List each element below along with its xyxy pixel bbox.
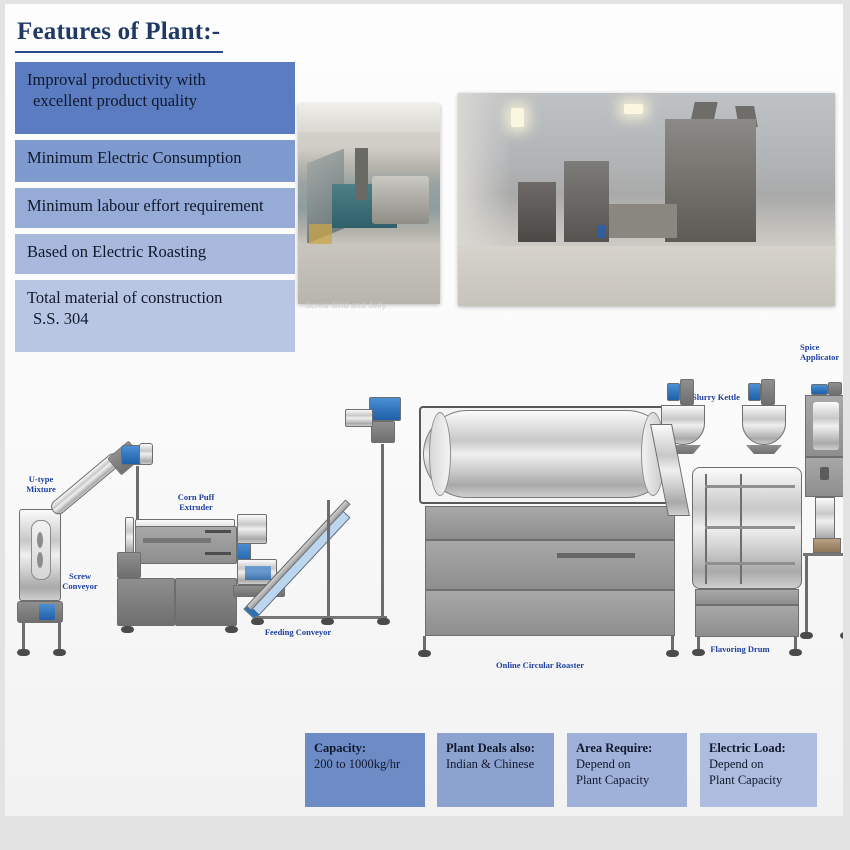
photo-base-unit — [609, 204, 677, 238]
spec-body: 200 to 1000kg/hr — [314, 756, 416, 772]
slurry-kettle-2-motor — [748, 383, 761, 401]
extruder-body-text — [143, 538, 211, 543]
slurry-kettle-2-stand — [746, 445, 782, 454]
photo-ceiling — [298, 104, 440, 132]
extruder-vent — [205, 530, 231, 533]
mixer-paddle-icon — [37, 552, 43, 568]
extruder-feed-pipe — [125, 517, 134, 557]
photo-large-machine — [665, 119, 755, 243]
roaster-body-text — [557, 553, 635, 558]
spec-heading: Capacity: — [314, 740, 416, 756]
page-title: Features of Plant:- — [17, 18, 220, 46]
feature-item-electric-consumption: Minimum Electric Consumption — [15, 140, 295, 182]
support-foot — [17, 649, 30, 656]
plant-specs-row: Capacity: 200 to 1000kg/hr Plant Deals a… — [305, 733, 843, 807]
slurry-kettle-2-gearbox — [761, 379, 775, 405]
feeding-conveyor-inlet-belt — [245, 566, 271, 580]
diagram-label-screw-conveyor: Screw Conveyor — [51, 571, 109, 591]
plant-photo-left — [298, 104, 440, 304]
support-leg — [136, 466, 139, 520]
photo-yellow-part — [309, 224, 332, 244]
photo-floor — [458, 246, 835, 306]
diagram-label-slurry-kettle: Slurry Kettle — [692, 392, 752, 402]
roaster-drum — [423, 410, 671, 498]
roaster-cabinet-middle — [425, 540, 675, 590]
extruder-control-box — [117, 552, 141, 578]
spice-applicator-gearbox — [828, 382, 842, 395]
roaster-drum-end-left — [429, 412, 451, 496]
feeding-conveyor-head-drive — [369, 397, 401, 421]
slurry-kettle-1-gearbox — [680, 379, 694, 405]
screw-conveyor-motor-cap — [139, 443, 153, 465]
feature-line-1: Improval productivity with — [27, 70, 206, 89]
diagram-label-flavoring-drum: Flavoring Drum — [697, 644, 783, 654]
spice-applicator-screw-window — [813, 402, 839, 450]
support-foot — [418, 650, 431, 657]
flavoring-drum-band — [705, 562, 795, 565]
roaster-cabinet-lower — [425, 590, 675, 636]
flavoring-drum-base — [695, 605, 799, 637]
diagram-label-feeding-conveyor: Feeding Conveyor — [253, 627, 343, 637]
extruder-base-right — [175, 578, 237, 626]
spice-applicator-panel — [820, 467, 829, 480]
flavoring-drum-rib — [740, 474, 742, 584]
feeding-conveyor-discharge-chute — [345, 409, 373, 427]
title-underline — [15, 51, 223, 53]
spec-body: Depend on Plant Capacity — [576, 756, 678, 788]
feature-item-labour-effort: Minimum labour effort requirement — [15, 188, 295, 228]
spec-box-electric-load: Electric Load: Depend on Plant Capacity — [700, 733, 817, 807]
support-foot — [800, 632, 813, 639]
photo-small-machine — [518, 182, 556, 242]
feature-item-productivity: Improval productivity with excellent pro… — [15, 62, 295, 134]
u-type-mixture-vessel — [31, 520, 51, 580]
photo-blue-drum — [597, 225, 605, 238]
extruder-base-left — [117, 578, 175, 626]
plant-layout-diagram: U-type Mixture Screw Conveyor Corn Puff … — [5, 304, 843, 694]
diagram-label-u-type-mixture: U-type Mixture — [11, 474, 71, 494]
flavoring-drum-rib — [705, 474, 707, 584]
feeding-conveyor-head-gearbox — [371, 421, 395, 443]
support-foot — [840, 632, 843, 639]
support-leg — [805, 556, 808, 634]
support-foot — [251, 618, 264, 625]
support-leg — [58, 623, 61, 651]
ceiling-lamp-icon — [624, 104, 643, 115]
support-foot — [225, 626, 238, 633]
spec-box-plant-deals: Plant Deals also: Indian & Chinese — [437, 733, 554, 807]
mixer-paddle-icon — [37, 532, 43, 548]
extruder-outlet-hopper — [237, 514, 267, 544]
spec-heading: Area Require: — [576, 740, 678, 756]
spec-body: Indian & Chinese — [446, 756, 545, 772]
spec-box-area-require: Area Require: Depend on Plant Capacity — [567, 733, 687, 807]
u-type-mixture-motor — [39, 604, 55, 620]
support-foot — [692, 649, 705, 656]
photo-drum — [372, 176, 429, 224]
support-foot — [121, 626, 134, 633]
support-foot — [666, 650, 679, 657]
diagram-label-online-circular-roaster: Online Circular Roaster — [475, 660, 605, 670]
slurry-kettle-1-motor — [667, 383, 680, 401]
diagram-label-spice-applicator: Spice Applicator — [800, 342, 843, 362]
flavoring-drum-band — [705, 485, 795, 488]
content-canvas: Features of Plant:- Improval productivit… — [5, 4, 843, 816]
flavoring-drum-base-top — [695, 589, 799, 605]
support-foot — [789, 649, 802, 656]
roaster-cabinet-upper — [425, 506, 675, 540]
spec-body: Depend on Plant Capacity — [709, 756, 808, 788]
feature-line-2: excellent product quality — [27, 90, 285, 111]
support-leg — [22, 623, 25, 651]
ceiling-lamp-icon — [511, 108, 524, 127]
plant-photo-right — [458, 93, 835, 306]
spice-applicator-collection-tray — [813, 538, 841, 553]
slurry-kettle-2-bowl — [742, 405, 786, 445]
diagram-label-corn-puff-extruder: Corn Puff Extruder — [165, 492, 227, 512]
photo-column — [355, 148, 368, 200]
photo-floor — [298, 244, 440, 304]
support-foot — [53, 649, 66, 656]
page-root: Features of Plant:- Improval productivit… — [0, 0, 850, 850]
support-foot — [321, 618, 334, 625]
support-leg — [327, 500, 330, 620]
extruder-vent — [205, 552, 231, 555]
spec-heading: Plant Deals also: — [446, 740, 545, 756]
spice-applicator-platform — [803, 553, 843, 556]
support-foot — [377, 618, 390, 625]
feature-item-electric-roasting: Based on Electric Roasting — [15, 234, 295, 274]
spice-applicator-motor — [811, 384, 828, 395]
spec-heading: Electric Load: — [709, 740, 808, 756]
flavoring-drum-band — [705, 526, 795, 529]
support-leg — [381, 444, 384, 620]
spec-box-capacity: Capacity: 200 to 1000kg/hr — [305, 733, 425, 807]
